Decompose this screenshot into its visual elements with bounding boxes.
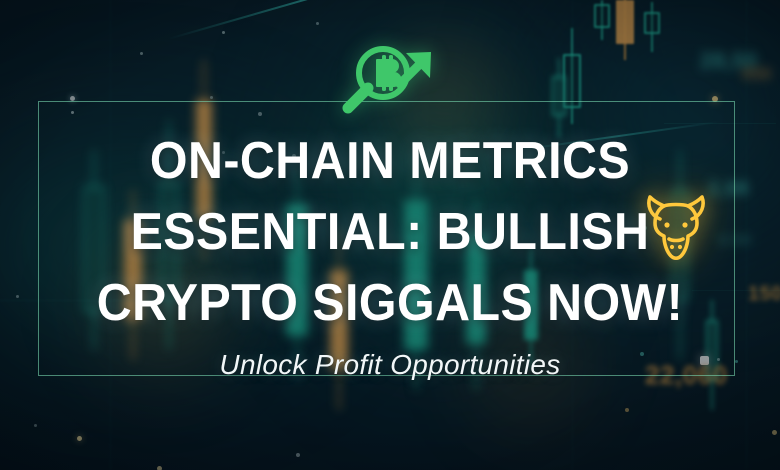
headline-block: ON-CHAIN METRICS ESSENTIAL: BULLISH CRYP… [0, 126, 780, 339]
poster-canvas: 28,50 2,08 150 22,060 856 0.94 [0, 0, 780, 470]
headline-line-1: ON-CHAIN METRICS [79, 126, 700, 197]
bitcoin-magnifier-growth-icon [336, 34, 436, 116]
subtitle: Unlock Profit Opportunities [0, 349, 780, 381]
headline-line-2: ESSENTIAL: BULLISH [79, 197, 700, 268]
headline-line-3: CRYPTO SIGGALS NOW! [79, 268, 700, 339]
